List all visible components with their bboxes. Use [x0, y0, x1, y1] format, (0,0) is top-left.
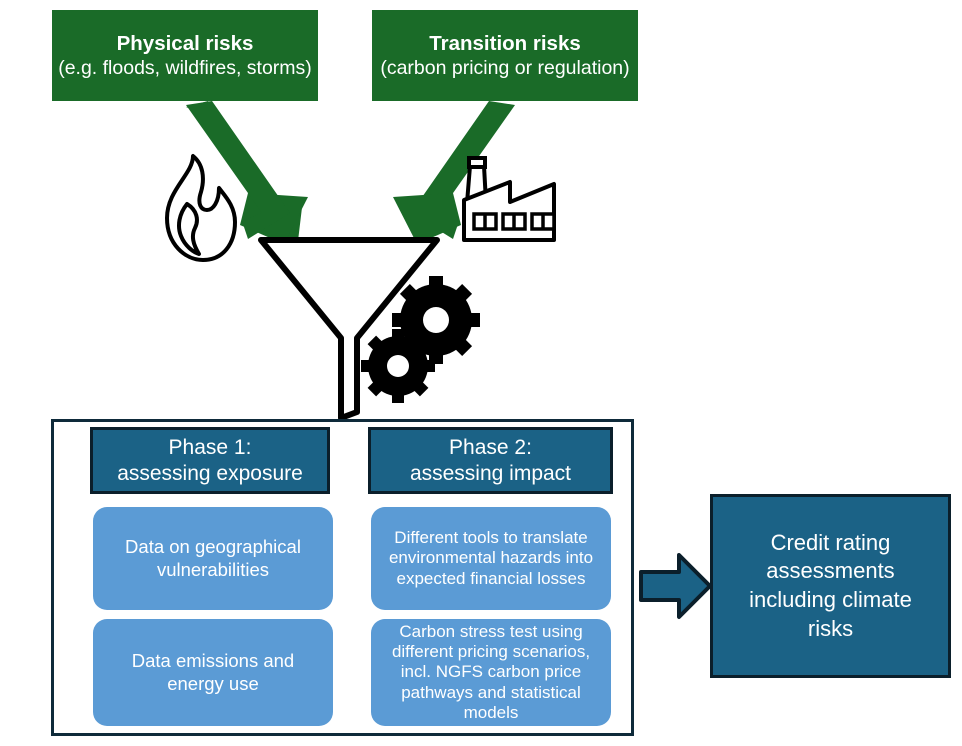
phase-2-header-line1: Phase 2:	[410, 435, 571, 461]
phase-2-header: Phase 2: assessing impact	[368, 427, 613, 494]
phase-2-card-1: Different tools to translate environment…	[371, 507, 611, 610]
physical-risks-title: Physical risks	[117, 31, 254, 56]
transition-risks-box: Transition risks (carbon pricing or regu…	[372, 10, 638, 101]
physical-risks-subtitle: (e.g. floods, wildfires, storms)	[58, 57, 312, 81]
phase-1-card-1-text: Data on geographical vulnerabilities	[102, 536, 324, 580]
phase-1-header-line1: Phase 1:	[117, 435, 303, 461]
phase-1-card-2-text: Data emissions and energy use	[102, 650, 324, 694]
physical-risks-box: Physical risks (e.g. floods, wildfires, …	[52, 10, 318, 101]
phase-2-card-2-text: Carbon stress test using different prici…	[380, 622, 602, 724]
right-arrow-icon	[639, 552, 713, 620]
transition-risks-title: Transition risks	[429, 31, 581, 56]
phase-2-card-1-text: Different tools to translate environment…	[380, 528, 602, 589]
phase-1-card-2: Data emissions and energy use	[93, 619, 333, 726]
credit-rating-outcome-text: Credit rating assessments including clim…	[727, 529, 934, 643]
phases-panel: Phase 1: assessing exposure Data on geog…	[51, 419, 634, 736]
credit-rating-outcome-box: Credit rating assessments including clim…	[710, 494, 951, 678]
phase-2-header-line2: assessing impact	[410, 461, 571, 487]
factory-icon	[458, 156, 558, 242]
diagram-canvas: Physical risks (e.g. floods, wildfires, …	[0, 0, 962, 746]
phase-1-header: Phase 1: assessing exposure	[90, 427, 330, 494]
phase-1-card-1: Data on geographical vulnerabilities	[93, 507, 333, 610]
phase-1-header-line2: assessing exposure	[117, 461, 303, 487]
flame-icon	[163, 152, 239, 264]
gears-icon	[360, 282, 480, 404]
transition-risks-subtitle: (carbon pricing or regulation)	[380, 57, 629, 81]
phase-2-card-2: Carbon stress test using different prici…	[371, 619, 611, 726]
